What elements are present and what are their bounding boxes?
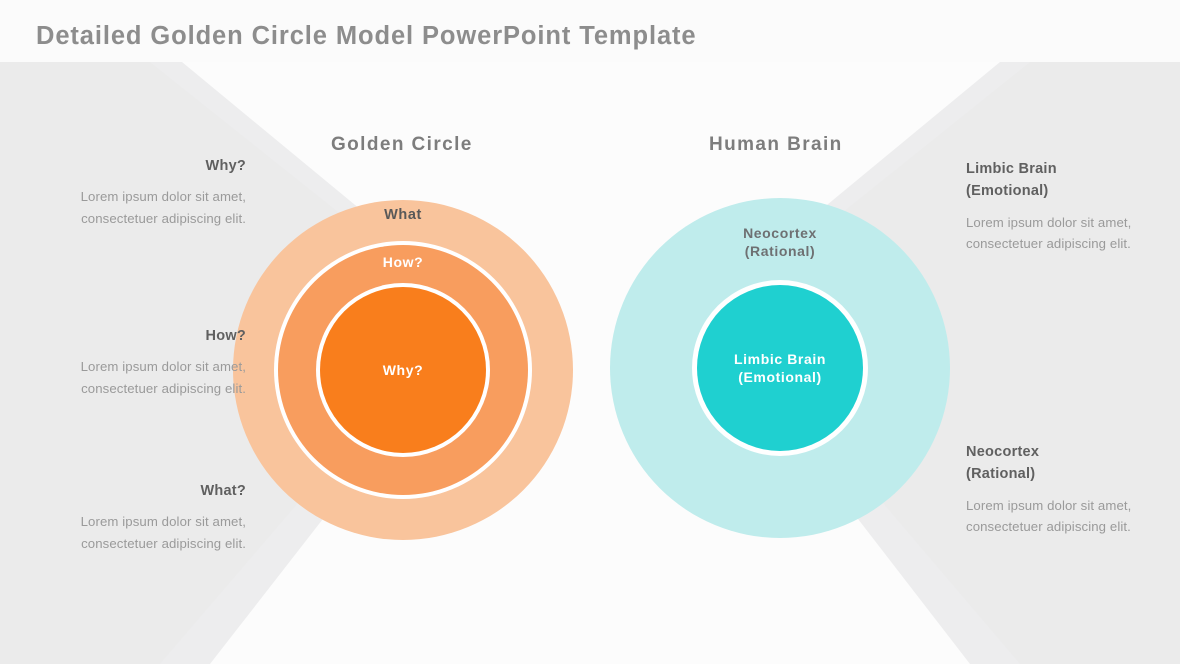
text-block-limbic-brain-title-line2: (Emotional) [966,180,1166,202]
human-brain-heading: Human Brain [709,134,843,156]
text-block-neocortex: Neocortex (Rational) Lorem ipsum dolor s… [966,441,1166,537]
human-brain-limbic-label: Limbic Brain (Emotional) [734,350,826,386]
text-block-what: What? Lorem ipsum dolor sit amet, consec… [38,480,246,554]
text-block-how: How? Lorem ipsum dolor sit amet, consect… [38,325,246,399]
golden-circle-inner-core[interactable]: Why? [320,287,486,453]
text-block-what-body: Lorem ipsum dolor sit amet, consectetuer… [38,511,246,553]
text-block-limbic-brain-title-line1: Limbic Brain [966,158,1166,180]
slide-canvas: Detailed Golden Circle Model PowerPoint … [0,0,1180,664]
text-block-neocortex-body: Lorem ipsum dolor sit amet, consectetuer… [966,495,1166,537]
text-block-why: Why? Lorem ipsum dolor sit amet, consect… [38,155,246,229]
golden-circle-middle-ring[interactable]: How? Why? [278,245,528,495]
golden-circle-outer-ring[interactable]: What How? Why? [233,200,573,540]
golden-circle-what-label: What [384,207,422,223]
text-block-neocortex-title-line2: (Rational) [966,463,1166,485]
page-title: Detailed Golden Circle Model PowerPoint … [36,22,697,51]
text-block-why-body: Lorem ipsum dolor sit amet, consectetuer… [38,186,246,228]
human-brain-neocortex-label-line2: (Rational) [743,242,817,260]
human-brain-limbic-label-line2: (Emotional) [734,368,826,386]
human-brain-limbic-label-line1: Limbic Brain [734,350,826,368]
golden-circle-heading: Golden Circle [331,134,473,156]
human-brain-neocortex-label-line1: Neocortex [743,224,817,242]
golden-circle-why-label: Why? [383,362,424,378]
text-block-how-body: Lorem ipsum dolor sit amet, consectetuer… [38,356,246,398]
text-block-what-title: What? [38,480,246,502]
text-block-limbic-brain: Limbic Brain (Emotional) Lorem ipsum dol… [966,158,1166,254]
text-block-limbic-brain-body: Lorem ipsum dolor sit amet, consectetuer… [966,212,1166,254]
human-brain-neocortex-label: Neocortex (Rational) [743,224,817,260]
human-brain-inner-core[interactable]: Limbic Brain (Emotional) [697,285,863,451]
text-block-neocortex-title-line1: Neocortex [966,441,1166,463]
human-brain-outer-ring[interactable]: Neocortex (Rational) Limbic Brain (Emoti… [610,198,950,538]
text-block-why-title: Why? [38,155,246,177]
text-block-how-title: How? [38,325,246,347]
golden-circle-how-label: How? [383,254,424,270]
